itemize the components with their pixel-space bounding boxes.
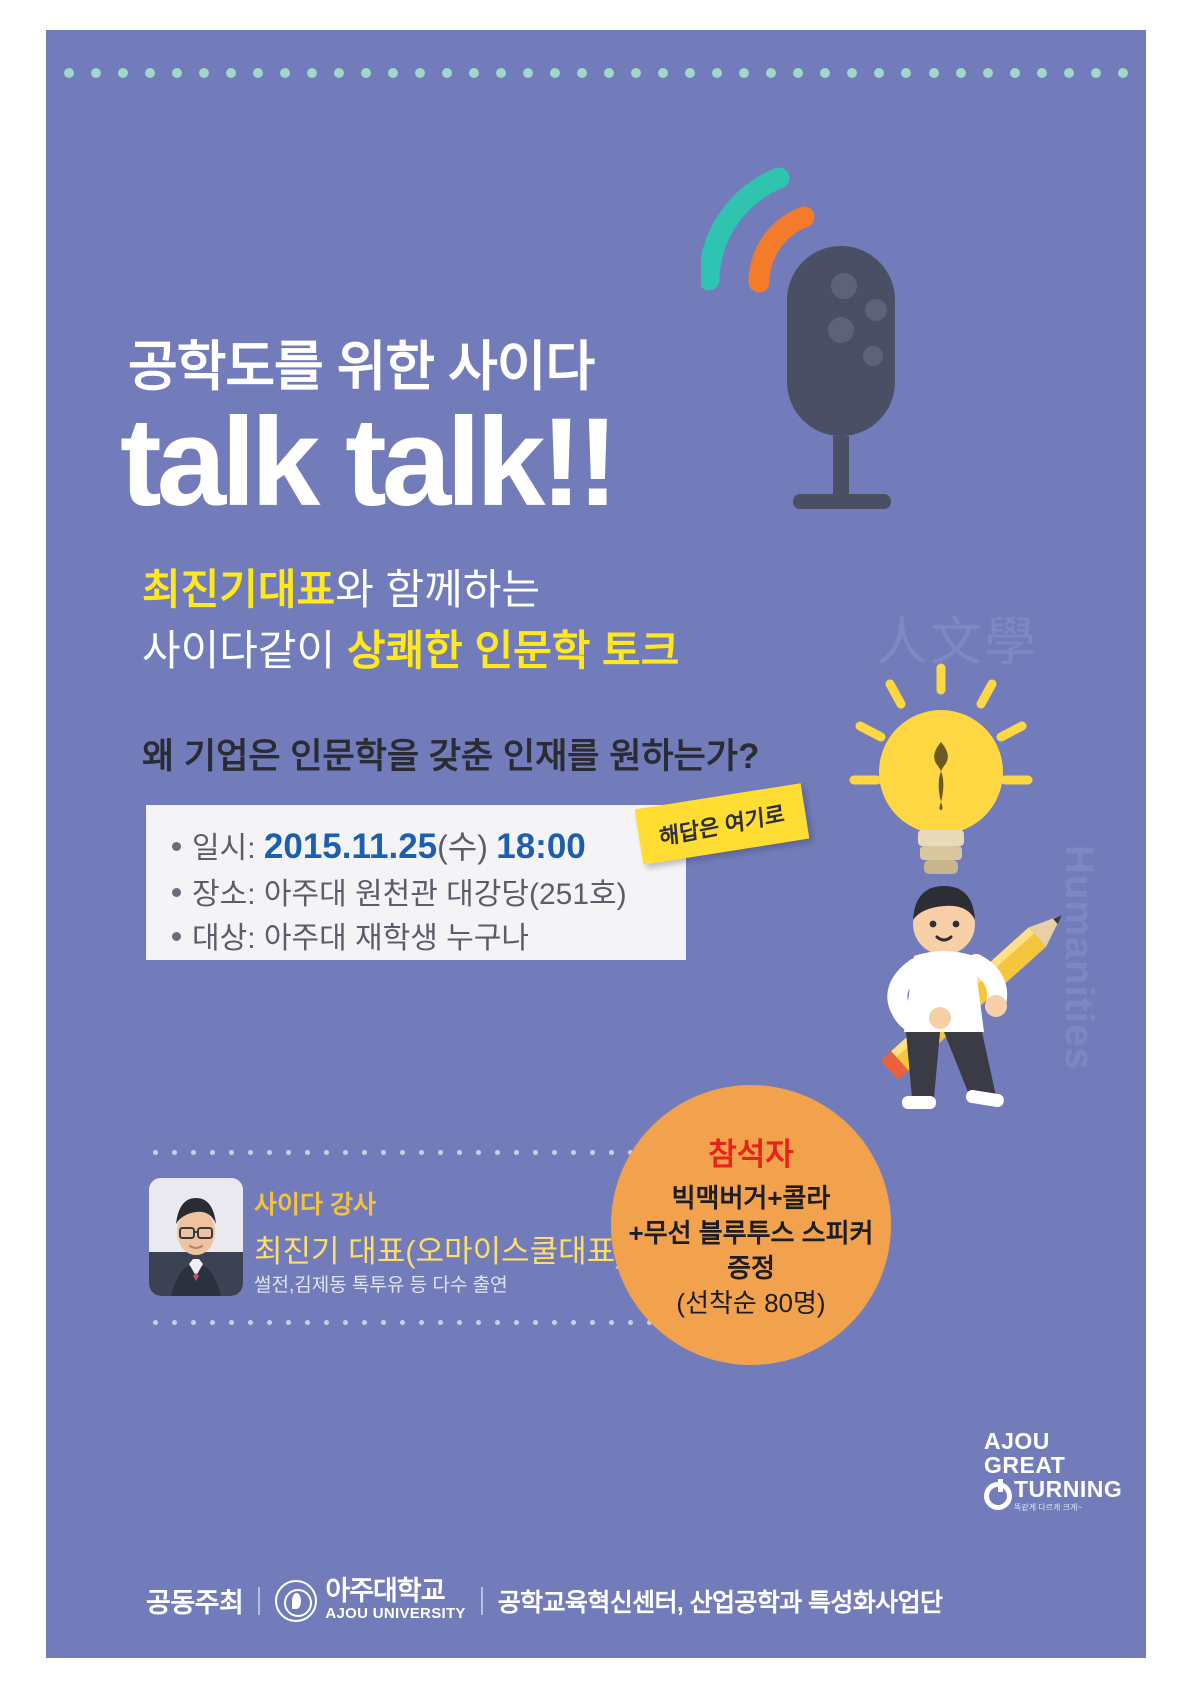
ajou-university-seal-icon [275, 1580, 317, 1622]
mascot-with-pencil-illustration [836, 860, 1096, 1150]
page-kicker: 공학도를 위한 사이다 [128, 322, 594, 401]
info-label-venue: 장소: [192, 873, 256, 917]
brand-line-3: TURNING [1014, 1478, 1114, 1502]
speaker-credits: 썰전,김제동 톡투유 등 다수 출연 [254, 1270, 508, 1297]
info-row-audience: 대상: 아주대 재학생 누구나 [172, 917, 686, 961]
university-name-en: AJOU UNIVERSITY [325, 1605, 465, 1623]
speaker-name: 최진기 대표(오마이스쿨대표) [254, 1226, 626, 1271]
speaker-avatar [149, 1178, 243, 1296]
footer-bar: 공동주최 아주대학교 AJOU UNIVERSITY 공학교육혁신센터, 산업공… [146, 1578, 942, 1623]
brand-tagline: 똑같게 다르게 크게~ [1014, 1502, 1114, 1513]
footer-cohost-label: 공동주최 [146, 1581, 243, 1620]
ajou-great-turning-logo: AJOU GREAT TURNING 똑같게 다르게 크게~ [984, 1430, 1114, 1522]
microphone-icon [701, 160, 951, 540]
question-headline: 왜 기업은 인문학을 갖춘 인재를 원하는가? [142, 728, 759, 779]
subtitle-line1-rest: 와 함께하는 [335, 566, 540, 613]
university-name-ko: 아주대학교 [325, 1578, 465, 1605]
attendee-gift-line-2: +무선 블루투스 스피커 [629, 1216, 874, 1251]
subtitle-block: 최진기대표와 함께하는 사이다같이 상쾌한 인문학 토크 [142, 560, 679, 682]
info-value-time: 18:00 [496, 821, 586, 873]
info-value-weekday: (수) [437, 824, 488, 871]
sticky-note-text: 해답은 여기로 [658, 796, 786, 852]
divider-top [146, 1150, 706, 1155]
page-title: talk talk!! [120, 400, 614, 525]
info-value-date: 2015.11.25 [264, 821, 437, 873]
poster-canvas: 공학도를 위한 사이다 talk talk!! 최진기대표와 함께하는 사이다같… [46, 30, 1146, 1658]
footer-organizers: 공학교육혁신센터, 산업공학과 특성화사업단 [498, 1583, 943, 1619]
info-label-audience: 대상: [192, 917, 256, 961]
speaker-role-label: 사이다 강사 [254, 1185, 376, 1221]
bullet-icon [172, 932, 181, 941]
info-row-date: 일시: 2015.11.25 (수) 18:00 [172, 821, 686, 873]
subtitle-speaker-highlight: 최진기대표 [142, 566, 335, 613]
info-value-audience: 아주대 재학생 누구나 [264, 917, 529, 961]
info-row-venue: 장소: 아주대 원천관 대강당(251호) [172, 873, 686, 917]
attendee-gift-line-3: 증정 [727, 1251, 775, 1286]
brand-line-1: AJOU [984, 1430, 1114, 1454]
event-info-box: 일시: 2015.11.25 (수) 18:00 장소: 아주대 원천관 대강당… [146, 805, 686, 960]
footer-divider-2 [481, 1587, 483, 1615]
footer-divider-1 [258, 1587, 260, 1615]
attendee-gift-badge: 참석자 빅맥버거+콜라 +무선 블루투스 스피커 증정 (선착순 80명) [611, 1085, 891, 1365]
subtitle-line2-plain: 사이다같이 [142, 627, 347, 674]
subtitle-line2-highlight: 상쾌한 인문학 토크 [347, 627, 679, 674]
info-label-date: 일시: [192, 827, 256, 871]
bullet-icon [172, 888, 181, 897]
sticky-note: 해답은 여기로 [635, 783, 810, 865]
decorative-dot-row [64, 68, 1128, 78]
attendee-gift-limit: (선착순 80명) [676, 1286, 825, 1321]
attendee-gift-line-1: 빅맥버거+콜라 [672, 1181, 831, 1216]
info-value-venue: 아주대 원천관 대강당(251호) [264, 873, 627, 917]
turning-arrow-icon [984, 1482, 1012, 1510]
brand-line-2: GREAT [984, 1454, 1114, 1478]
attendee-badge-title: 참석자 [708, 1129, 794, 1174]
divider-bottom [146, 1320, 706, 1325]
bullet-icon [172, 842, 181, 851]
ajou-university-wordmark: 아주대학교 AJOU UNIVERSITY [325, 1578, 465, 1623]
